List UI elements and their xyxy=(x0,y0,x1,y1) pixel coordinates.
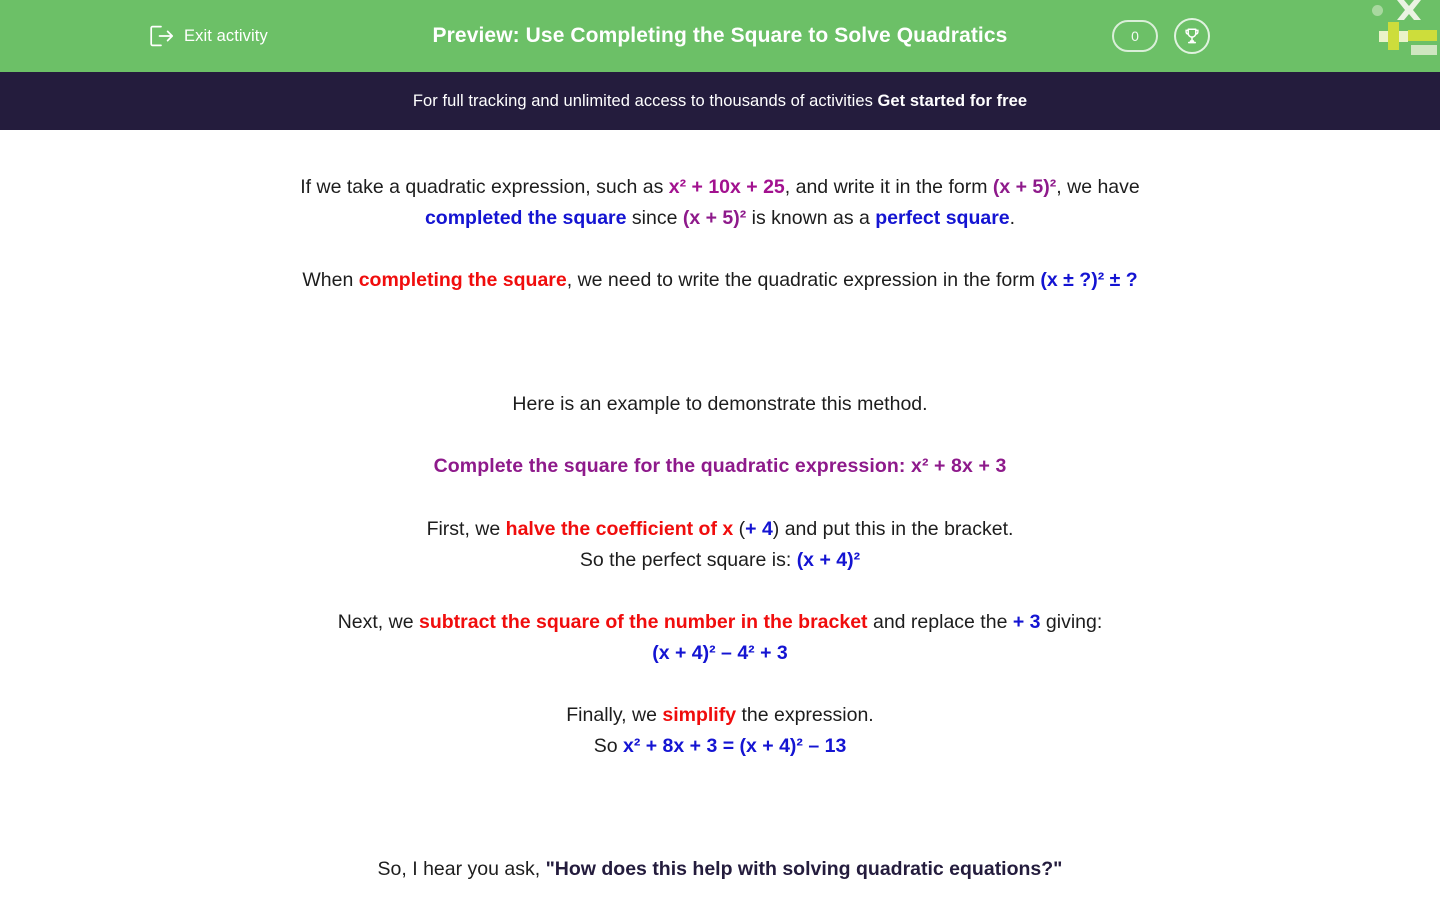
intro-expression-3: (x + 5)² xyxy=(683,207,746,229)
header-actions: 0 xyxy=(1112,18,1210,54)
closing-question-line: So, I hear you ask, "How does this help … xyxy=(0,854,1440,885)
decor-bar-pale xyxy=(1411,45,1437,55)
decor-bar-lime xyxy=(1408,30,1437,41)
rule-paragraph: When completing the square, we need to w… xyxy=(0,265,1440,296)
subtract-square-term: subtract the square of the number in the… xyxy=(419,611,868,633)
completing-the-square-term: completing the square xyxy=(359,269,567,291)
get-started-link[interactable]: Get started for free xyxy=(878,92,1028,110)
rule-text-b: , we need to write the quadratic express… xyxy=(567,269,1041,291)
exit-door-arrow-icon xyxy=(150,25,174,47)
closing-quoted-question: "How does this help with solving quadrat… xyxy=(546,858,1063,880)
step2-text-b: and replace the xyxy=(868,611,1013,633)
intro-text-a: If we take a quadratic expression, such … xyxy=(300,176,669,198)
decor-circle xyxy=(1372,5,1383,16)
step3-final-expression: x² + 8x + 3 = (x + 4)² – 13 xyxy=(623,735,846,757)
closing-text-a: So, I hear you ask, xyxy=(378,858,546,880)
intro-expression-2: (x + 5)² xyxy=(993,176,1056,198)
trophy-icon xyxy=(1182,26,1202,46)
step1-text-c: ) and put this in the bracket. xyxy=(773,518,1014,540)
step-two: Next, we subtract the square of the numb… xyxy=(0,607,1440,669)
example-heading: Complete the square for the quadratic ex… xyxy=(0,451,1440,482)
intro-expression-1: x² + 10x + 25 xyxy=(669,176,785,198)
spacer xyxy=(0,669,1440,700)
halve-coefficient-term: halve the coefficient of x xyxy=(506,518,734,540)
spacer xyxy=(0,576,1440,607)
intro-text-d: since xyxy=(627,207,683,229)
step-three: Finally, we simplify the expression. So … xyxy=(0,700,1440,762)
upgrade-banner-text: For full tracking and unlimited access t… xyxy=(413,92,1027,111)
activity-content: If we take a quadratic expression, such … xyxy=(0,130,1440,885)
intro-text-e: is known as a xyxy=(746,207,875,229)
step-one: First, we halve the coefficient of x (+ … xyxy=(0,514,1440,576)
exit-activity-button[interactable]: Exit activity xyxy=(150,25,268,47)
general-form-expression: (x ± ?)² ± ? xyxy=(1040,269,1137,291)
spacer xyxy=(0,296,1440,389)
step2-expression: (x + 4)² – 4² + 3 xyxy=(652,642,787,664)
step1-text-b: ( xyxy=(733,518,745,540)
step1-text-a: First, we xyxy=(427,518,506,540)
step3-text-a: Finally, we xyxy=(566,704,662,726)
intro-text-c: , we have xyxy=(1056,176,1139,198)
spacer xyxy=(0,420,1440,451)
upgrade-banner-message: For full tracking and unlimited access t… xyxy=(413,92,878,110)
perfect-square-term: perfect square xyxy=(875,207,1009,229)
step1-value: + 4 xyxy=(745,518,773,540)
step3-text-b: the expression. xyxy=(736,704,874,726)
completed-the-square-term: completed the square xyxy=(425,207,627,229)
exit-activity-label: Exit activity xyxy=(184,27,268,46)
intro-text-b: , and write it in the form xyxy=(785,176,993,198)
step2-constant: + 3 xyxy=(1013,611,1041,633)
spacer xyxy=(0,762,1440,854)
example-intro-line: Here is an example to demonstrate this m… xyxy=(0,389,1440,420)
step3-line2-text: So xyxy=(594,735,623,757)
step1-line2-text: So the perfect square is: xyxy=(580,549,797,571)
step1-perfect-square: (x + 4)² xyxy=(797,549,860,571)
intro-paragraph: If we take a quadratic expression, such … xyxy=(0,172,1440,234)
step2-text-c: giving: xyxy=(1041,611,1103,633)
score-badge[interactable]: 0 xyxy=(1112,20,1158,52)
app-header: Exit activity Preview: Use Completing th… xyxy=(0,0,1440,72)
intro-text-f: . xyxy=(1010,207,1015,229)
spacer xyxy=(0,482,1440,514)
trophy-button[interactable] xyxy=(1174,18,1210,54)
decor-plus-center xyxy=(1388,31,1399,42)
simplify-term: simplify xyxy=(662,704,736,726)
upgrade-banner: For full tracking and unlimited access t… xyxy=(0,72,1440,130)
decor-x-shape xyxy=(1394,0,1424,24)
rule-text-a: When xyxy=(302,269,358,291)
step2-text-a: Next, we xyxy=(338,611,419,633)
